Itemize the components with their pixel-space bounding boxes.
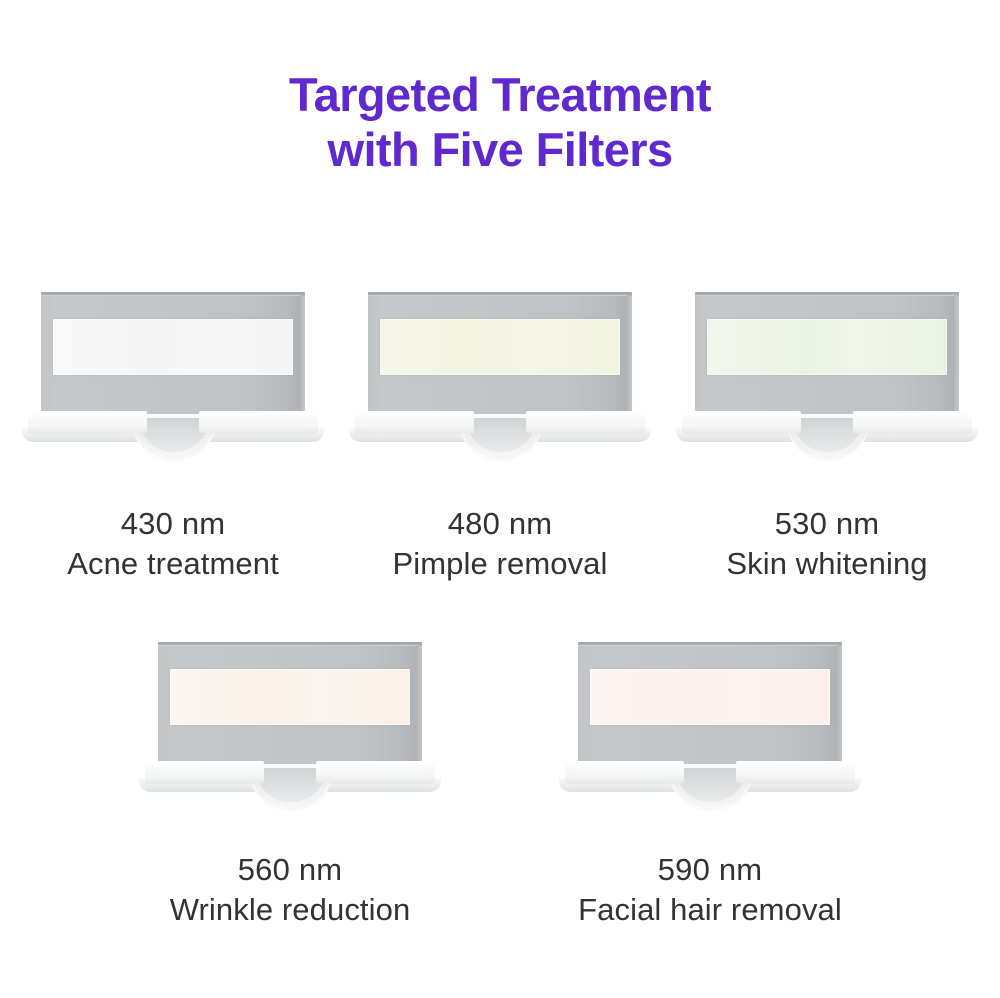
filter-window <box>590 669 830 725</box>
filter-card-560[interactable]: 560 nm Wrinkle reduction <box>139 618 441 929</box>
filter-card-530[interactable]: 530 nm Skin whitening <box>676 268 978 583</box>
filter-caption: 480 nm Pimple removal <box>392 504 607 583</box>
filter-card-480[interactable]: 480 nm Pimple removal <box>349 268 651 583</box>
filter-wavelength: 590 nm <box>578 850 842 890</box>
filter-row-top: 430 nm Acne treatment 480 nm Pimple remo… <box>0 268 1000 583</box>
module-shelf-wing-left <box>156 761 264 783</box>
filter-window <box>707 319 947 375</box>
filter-benefit: Skin whitening <box>726 544 927 584</box>
filter-wavelength: 480 nm <box>392 504 607 544</box>
module-shelf-wing-left <box>366 411 474 433</box>
module-shelf-wing-left <box>39 411 147 433</box>
filter-caption: 530 nm Skin whitening <box>726 504 927 583</box>
infographic-page: { "page": { "background_color": "#ffffff… <box>0 0 1000 998</box>
filter-window <box>380 319 620 375</box>
title-line-1: Targeted Treatment <box>0 68 1000 123</box>
filter-window <box>53 319 293 375</box>
module-shelf-wing-right <box>526 411 634 433</box>
filter-card-430[interactable]: 430 nm Acne treatment <box>22 268 324 583</box>
filter-window <box>170 669 410 725</box>
filter-module-icon <box>349 268 651 468</box>
filter-benefit: Acne treatment <box>67 544 279 584</box>
module-shelf-wing-right <box>199 411 307 433</box>
filter-benefit: Facial hair removal <box>578 890 842 930</box>
module-shelf-wing-right <box>853 411 961 433</box>
filter-wavelength: 560 nm <box>170 850 411 890</box>
filter-module-icon <box>676 268 978 468</box>
filter-module-icon <box>559 618 861 818</box>
filter-module-icon <box>22 268 324 468</box>
title-line-2: with Five Filters <box>0 123 1000 178</box>
filter-caption: 560 nm Wrinkle reduction <box>170 850 411 929</box>
filter-benefit: Pimple removal <box>392 544 607 584</box>
module-shelf-wing-left <box>693 411 801 433</box>
module-shelf-wing-right <box>736 761 844 783</box>
filter-benefit: Wrinkle reduction <box>170 890 411 930</box>
filter-row-bottom: 560 nm Wrinkle reduction 590 nm Facial h… <box>0 618 1000 929</box>
module-shelf-wing-left <box>576 761 684 783</box>
filter-wavelength: 430 nm <box>67 504 279 544</box>
page-title: Targeted Treatment with Five Filters <box>0 68 1000 177</box>
module-shelf-wing-right <box>316 761 424 783</box>
filter-caption: 430 nm Acne treatment <box>67 504 279 583</box>
filter-module-icon <box>139 618 441 818</box>
filter-wavelength: 530 nm <box>726 504 927 544</box>
filter-card-590[interactable]: 590 nm Facial hair removal <box>559 618 861 929</box>
filter-caption: 590 nm Facial hair removal <box>578 850 842 929</box>
